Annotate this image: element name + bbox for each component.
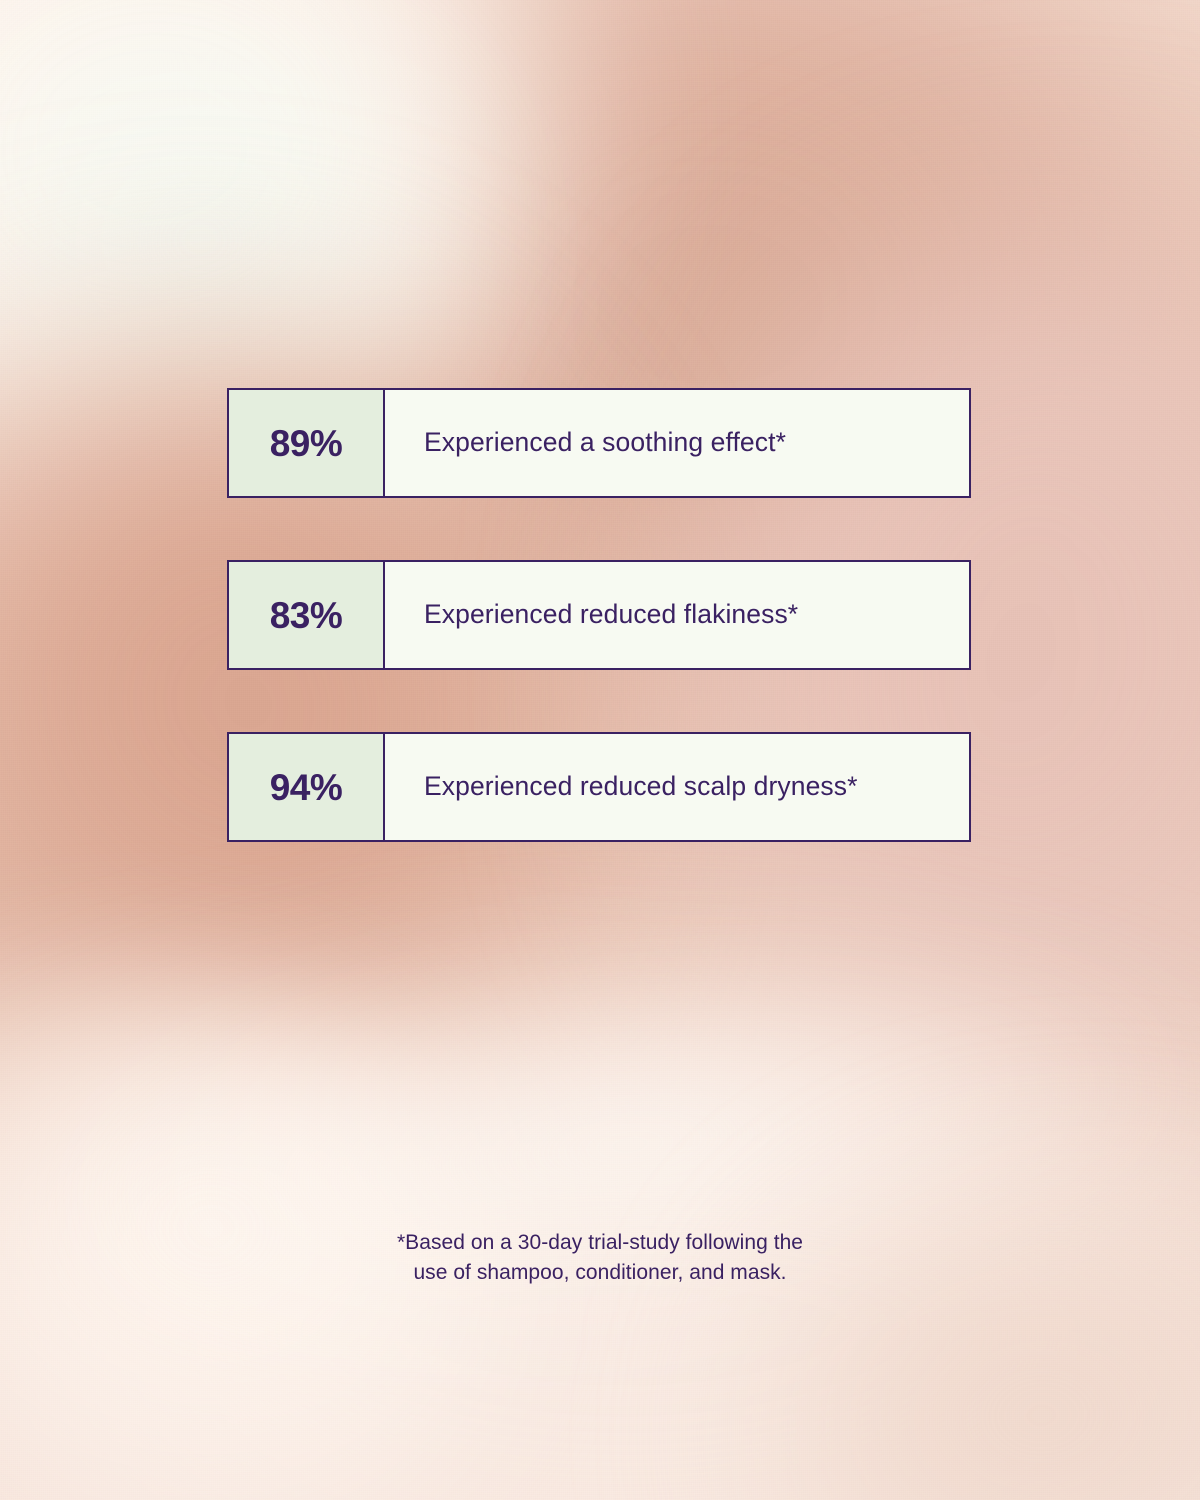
- stat-label-text: Experienced reduced flakiness*: [424, 599, 798, 631]
- stat-percent-value: 89%: [270, 425, 343, 462]
- stat-percent-value: 83%: [270, 597, 343, 634]
- stat-label-text: Experienced a soothing effect*: [424, 427, 786, 459]
- page-content: 89% Experienced a soothing effect* 83% E…: [0, 0, 1200, 1500]
- stats-list: 89% Experienced a soothing effect* 83% E…: [227, 388, 971, 842]
- footnote-line-1: *Based on a 30-day trial-study following…: [0, 1228, 1200, 1258]
- stat-percent-cell: 83%: [229, 562, 385, 668]
- stat-row: 94% Experienced reduced scalp dryness*: [227, 732, 971, 842]
- footnote: *Based on a 30-day trial-study following…: [0, 1228, 1200, 1288]
- stat-label-cell: Experienced reduced scalp dryness*: [385, 734, 969, 840]
- footnote-line-2: use of shampoo, conditioner, and mask.: [0, 1258, 1200, 1288]
- stat-percent-cell: 89%: [229, 390, 385, 496]
- stat-label-cell: Experienced a soothing effect*: [385, 390, 969, 496]
- stat-label-cell: Experienced reduced flakiness*: [385, 562, 969, 668]
- stat-percent-value: 94%: [270, 769, 343, 806]
- stat-row: 89% Experienced a soothing effect*: [227, 388, 971, 498]
- stat-row: 83% Experienced reduced flakiness*: [227, 560, 971, 670]
- stat-label-text: Experienced reduced scalp dryness*: [424, 771, 858, 803]
- stat-percent-cell: 94%: [229, 734, 385, 840]
